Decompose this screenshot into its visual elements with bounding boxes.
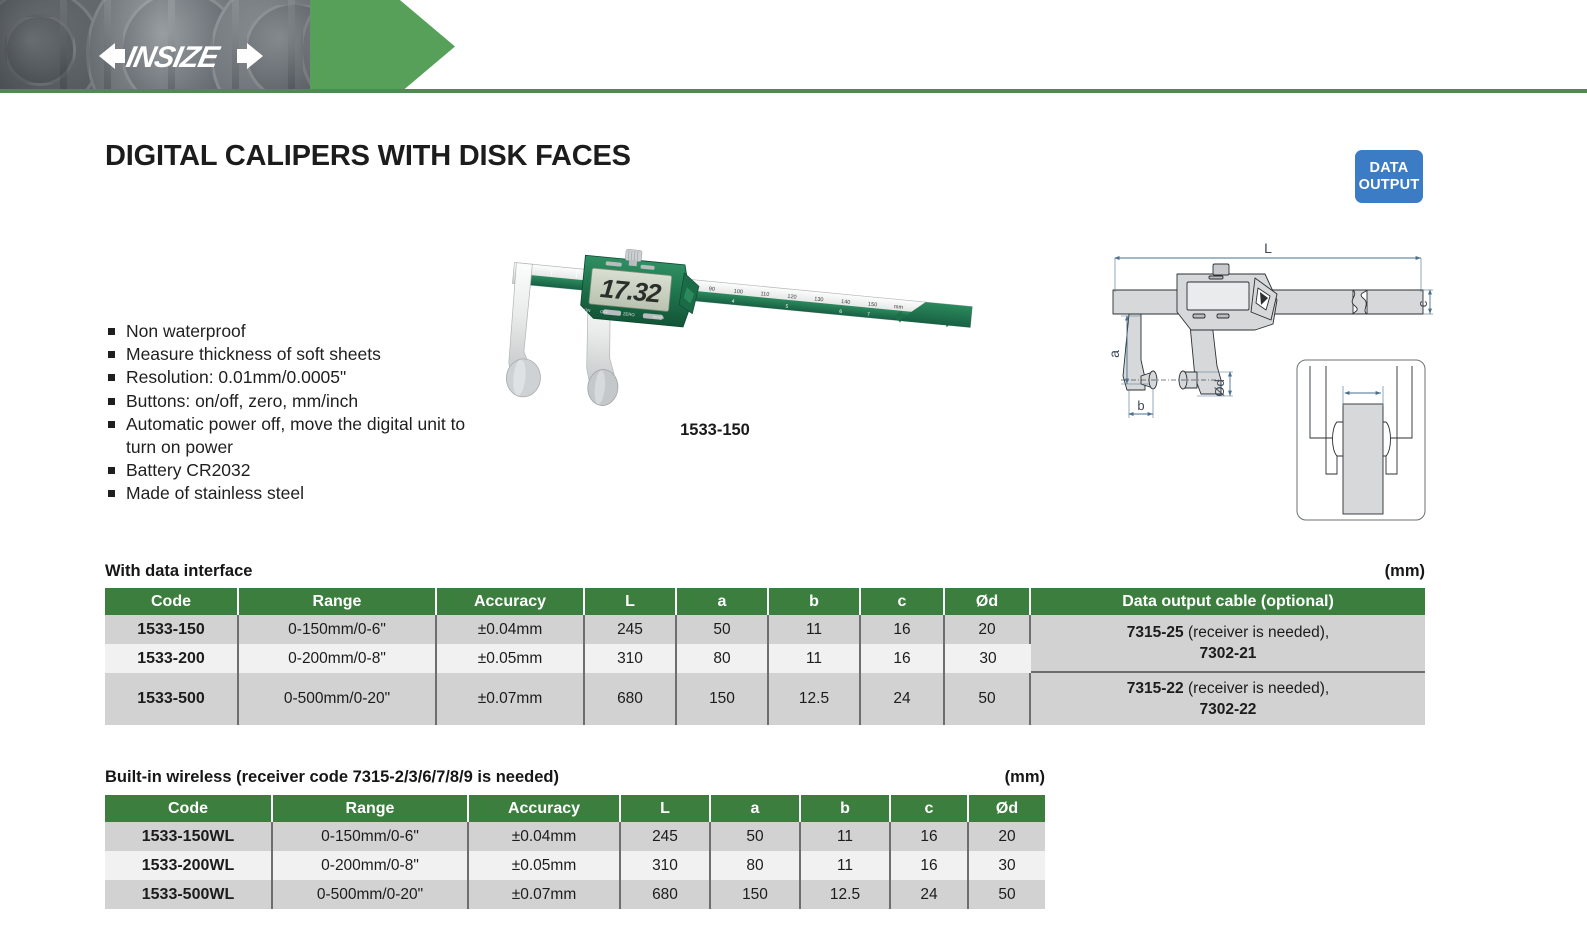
cell-range: 0-200mm/0-8" xyxy=(273,851,469,880)
table-1-label: With data interface xyxy=(105,562,252,581)
col-header-b[interactable]: b xyxy=(801,795,891,822)
table-2-unit: (mm) xyxy=(925,768,1045,787)
dim-label-b: b xyxy=(1137,398,1144,413)
table-row[interactable]: 1533-150WL 0-150mm/0-6" ±0.04mm 245 50 1… xyxy=(105,822,1045,851)
cell-b: 11 xyxy=(769,615,861,644)
cell-accuracy: ±0.05mm xyxy=(469,851,621,880)
product-caption: 1533-150 xyxy=(600,421,830,440)
col-header-c[interactable]: c xyxy=(861,588,945,615)
cable-code-primary: 7315-25 xyxy=(1127,624,1184,641)
svg-text:OFF: OFF xyxy=(600,309,609,315)
cable-note: (receiver is needed), xyxy=(1188,624,1329,641)
cell-code: 1533-500 xyxy=(105,673,239,725)
table-row-header: Code Range Accuracy L a b c Ød xyxy=(105,795,1045,822)
technical-drawing: L a b c Ød xyxy=(1105,238,1435,533)
cell-code: 1533-500WL xyxy=(105,880,273,909)
cell-accuracy: ±0.04mm xyxy=(469,822,621,851)
list-item: Battery CR2032 xyxy=(108,459,488,482)
cell-c: 24 xyxy=(891,880,969,909)
cell-b: 12.5 xyxy=(769,673,861,725)
svg-text:140: 140 xyxy=(841,299,851,306)
cell-od: 20 xyxy=(969,822,1045,851)
svg-text:100: 100 xyxy=(733,289,743,296)
col-header-range[interactable]: Range xyxy=(273,795,469,822)
col-header-data-output-cable[interactable]: Data output cable (optional) xyxy=(1031,588,1425,615)
feature-text: Made of stainless steel xyxy=(126,482,488,505)
cell-od: 50 xyxy=(945,673,1031,725)
list-item: Buttons: on/off, zero, mm/inch xyxy=(108,390,488,413)
page-title: DIGITAL CALIPERS WITH DISK FACES xyxy=(105,140,631,173)
feature-text: Measure thickness of soft sheets xyxy=(126,343,488,366)
svg-text:90: 90 xyxy=(708,286,715,293)
col-header-code[interactable]: Code xyxy=(105,795,273,822)
col-header-l[interactable]: L xyxy=(621,795,711,822)
bullet-square-icon xyxy=(108,467,115,474)
list-item: Made of stainless steel xyxy=(108,482,488,505)
feature-text: Battery CR2032 xyxy=(126,459,488,482)
cell-a: 80 xyxy=(677,644,769,673)
cell-accuracy: ±0.05mm xyxy=(437,644,585,673)
badge-line-1: DATA xyxy=(1370,160,1409,177)
list-item: Resolution: 0.01mm/0.0005" xyxy=(108,366,488,389)
cell-accuracy: ±0.07mm xyxy=(469,880,621,909)
svg-text:150: 150 xyxy=(868,302,878,309)
cell-od: 50 xyxy=(969,880,1045,909)
cell-a: 150 xyxy=(677,673,769,725)
table-row[interactable]: 1533-500WL 0-500mm/0-20" ±0.07mm 680 150… xyxy=(105,880,1045,909)
cell-accuracy: ±0.04mm xyxy=(437,615,585,644)
dim-label-diameter: Ød xyxy=(1212,379,1227,396)
table-1-unit: (mm) xyxy=(1305,562,1425,581)
green-chevron-accent xyxy=(310,0,455,93)
dim-label-c: c xyxy=(1415,300,1430,307)
cable-code-primary: 7315-22 xyxy=(1127,680,1184,697)
insize-logo: INSIZE xyxy=(95,38,267,74)
cell-b: 11 xyxy=(769,644,861,673)
cell-range: 0-500mm/0-20" xyxy=(239,673,437,725)
cell-range: 0-150mm/0-6" xyxy=(273,822,469,851)
svg-text:ON: ON xyxy=(584,307,591,313)
cell-range: 0-500mm/0-20" xyxy=(273,880,469,909)
table-row-header: Code Range Accuracy L a b c Ød Data outp… xyxy=(105,588,1425,615)
feature-text: Buttons: on/off, zero, mm/inch xyxy=(126,390,488,413)
cell-l: 245 xyxy=(621,822,711,851)
svg-text:110: 110 xyxy=(760,291,769,298)
col-header-a[interactable]: a xyxy=(711,795,801,822)
dim-label-a: a xyxy=(1106,350,1122,358)
table-row[interactable]: 1533-500 0-500mm/0-20" ±0.07mm 680 150 1… xyxy=(105,673,1425,725)
bullet-square-icon xyxy=(108,328,115,335)
table-row[interactable]: 1533-200WL 0-200mm/0-8" ±0.05mm 310 80 1… xyxy=(105,851,1045,880)
bullet-square-icon xyxy=(108,490,115,497)
cell-od: 30 xyxy=(945,644,1031,673)
cell-b: 11 xyxy=(801,822,891,851)
col-header-accuracy[interactable]: Accuracy xyxy=(437,588,585,615)
cell-a: 50 xyxy=(711,822,801,851)
col-header-l[interactable]: L xyxy=(585,588,677,615)
cell-data-output-cable: 7315-22 (receiver is needed), 7302-22 xyxy=(1031,673,1425,725)
table-row[interactable]: 1533-150 0-150mm/0-6" ±0.04mm 245 50 11 … xyxy=(105,615,1425,644)
cell-code: 1533-200WL xyxy=(105,851,273,880)
dim-label-L: L xyxy=(1264,240,1272,256)
cell-c: 24 xyxy=(861,673,945,725)
feature-text: Non waterproof xyxy=(126,320,488,343)
cell-l: 310 xyxy=(585,644,677,673)
cell-l: 245 xyxy=(585,615,677,644)
svg-text:INSIZE: INSIZE xyxy=(123,41,222,74)
cell-c: 16 xyxy=(891,851,969,880)
cable-code-secondary: 7302-22 xyxy=(1200,701,1257,718)
col-header-accuracy[interactable]: Accuracy xyxy=(469,795,621,822)
cell-a: 80 xyxy=(711,851,801,880)
cell-data-output-cable: 7315-25 (receiver is needed), 7302-21 xyxy=(1031,615,1425,673)
bullet-square-icon xyxy=(108,421,115,428)
svg-text:120: 120 xyxy=(787,294,797,301)
spec-table-built-in-wireless: Code Range Accuracy L a b c Ød 1533-150W… xyxy=(105,795,1045,909)
list-item: Non waterproof xyxy=(108,320,488,343)
cable-code-secondary: 7302-21 xyxy=(1200,645,1257,662)
feature-text: Resolution: 0.01mm/0.0005" xyxy=(126,366,488,389)
cell-od: 20 xyxy=(945,615,1031,644)
detail-inset-view xyxy=(1297,360,1425,520)
page-header-banner: INSIZE xyxy=(0,0,1587,93)
spec-table-with-data-interface: Code Range Accuracy L a b c Ød Data outp… xyxy=(105,588,1425,725)
col-header-od[interactable]: Ød xyxy=(969,795,1045,822)
bullet-square-icon xyxy=(108,351,115,358)
cell-a: 150 xyxy=(711,880,801,909)
badge-line-2: OUTPUT xyxy=(1359,177,1420,194)
cell-c: 16 xyxy=(861,644,945,673)
cell-l: 310 xyxy=(621,851,711,880)
cell-b: 12.5 xyxy=(801,880,891,909)
cable-note: (receiver is needed), xyxy=(1188,680,1329,697)
bullet-square-icon xyxy=(108,374,115,381)
cell-a: 50 xyxy=(677,615,769,644)
cell-code: 1533-200 xyxy=(105,644,239,673)
product-photo-caliper: 90100110 120130140 150mm 456 7 INSIZE xyxy=(470,245,1030,430)
cell-c: 16 xyxy=(891,822,969,851)
feature-list: Non waterproof Measure thickness of soft… xyxy=(108,320,488,506)
col-header-a[interactable]: a xyxy=(677,588,769,615)
feature-text: Automatic power off, move the digital un… xyxy=(126,413,488,459)
svg-text:130: 130 xyxy=(814,296,824,303)
cell-range: 0-150mm/0-6" xyxy=(239,615,437,644)
cell-c: 16 xyxy=(861,615,945,644)
col-header-od[interactable]: Ød xyxy=(945,588,1031,615)
data-output-badge[interactable]: DATA OUTPUT xyxy=(1355,150,1423,203)
col-header-code[interactable]: Code xyxy=(105,588,239,615)
cell-code: 1533-150WL xyxy=(105,822,273,851)
col-header-b[interactable]: b xyxy=(769,588,861,615)
cell-range: 0-200mm/0-8" xyxy=(239,644,437,673)
svg-text:17.32: 17.32 xyxy=(599,273,663,309)
cell-l: 680 xyxy=(585,673,677,725)
cell-accuracy: ±0.07mm xyxy=(437,673,585,725)
cell-l: 680 xyxy=(621,880,711,909)
cell-code: 1533-150 xyxy=(105,615,239,644)
list-item: Measure thickness of soft sheets xyxy=(108,343,488,366)
header-green-rule xyxy=(0,89,1587,93)
cell-od: 30 xyxy=(969,851,1045,880)
table-2-label: Built-in wireless (receiver code 7315-2/… xyxy=(105,768,559,787)
list-item: Automatic power off, move the digital un… xyxy=(108,413,488,459)
col-header-c[interactable]: c xyxy=(891,795,969,822)
bullet-square-icon xyxy=(108,398,115,405)
svg-text:mm: mm xyxy=(894,304,904,311)
col-header-range[interactable]: Range xyxy=(239,588,437,615)
cell-b: 11 xyxy=(801,851,891,880)
